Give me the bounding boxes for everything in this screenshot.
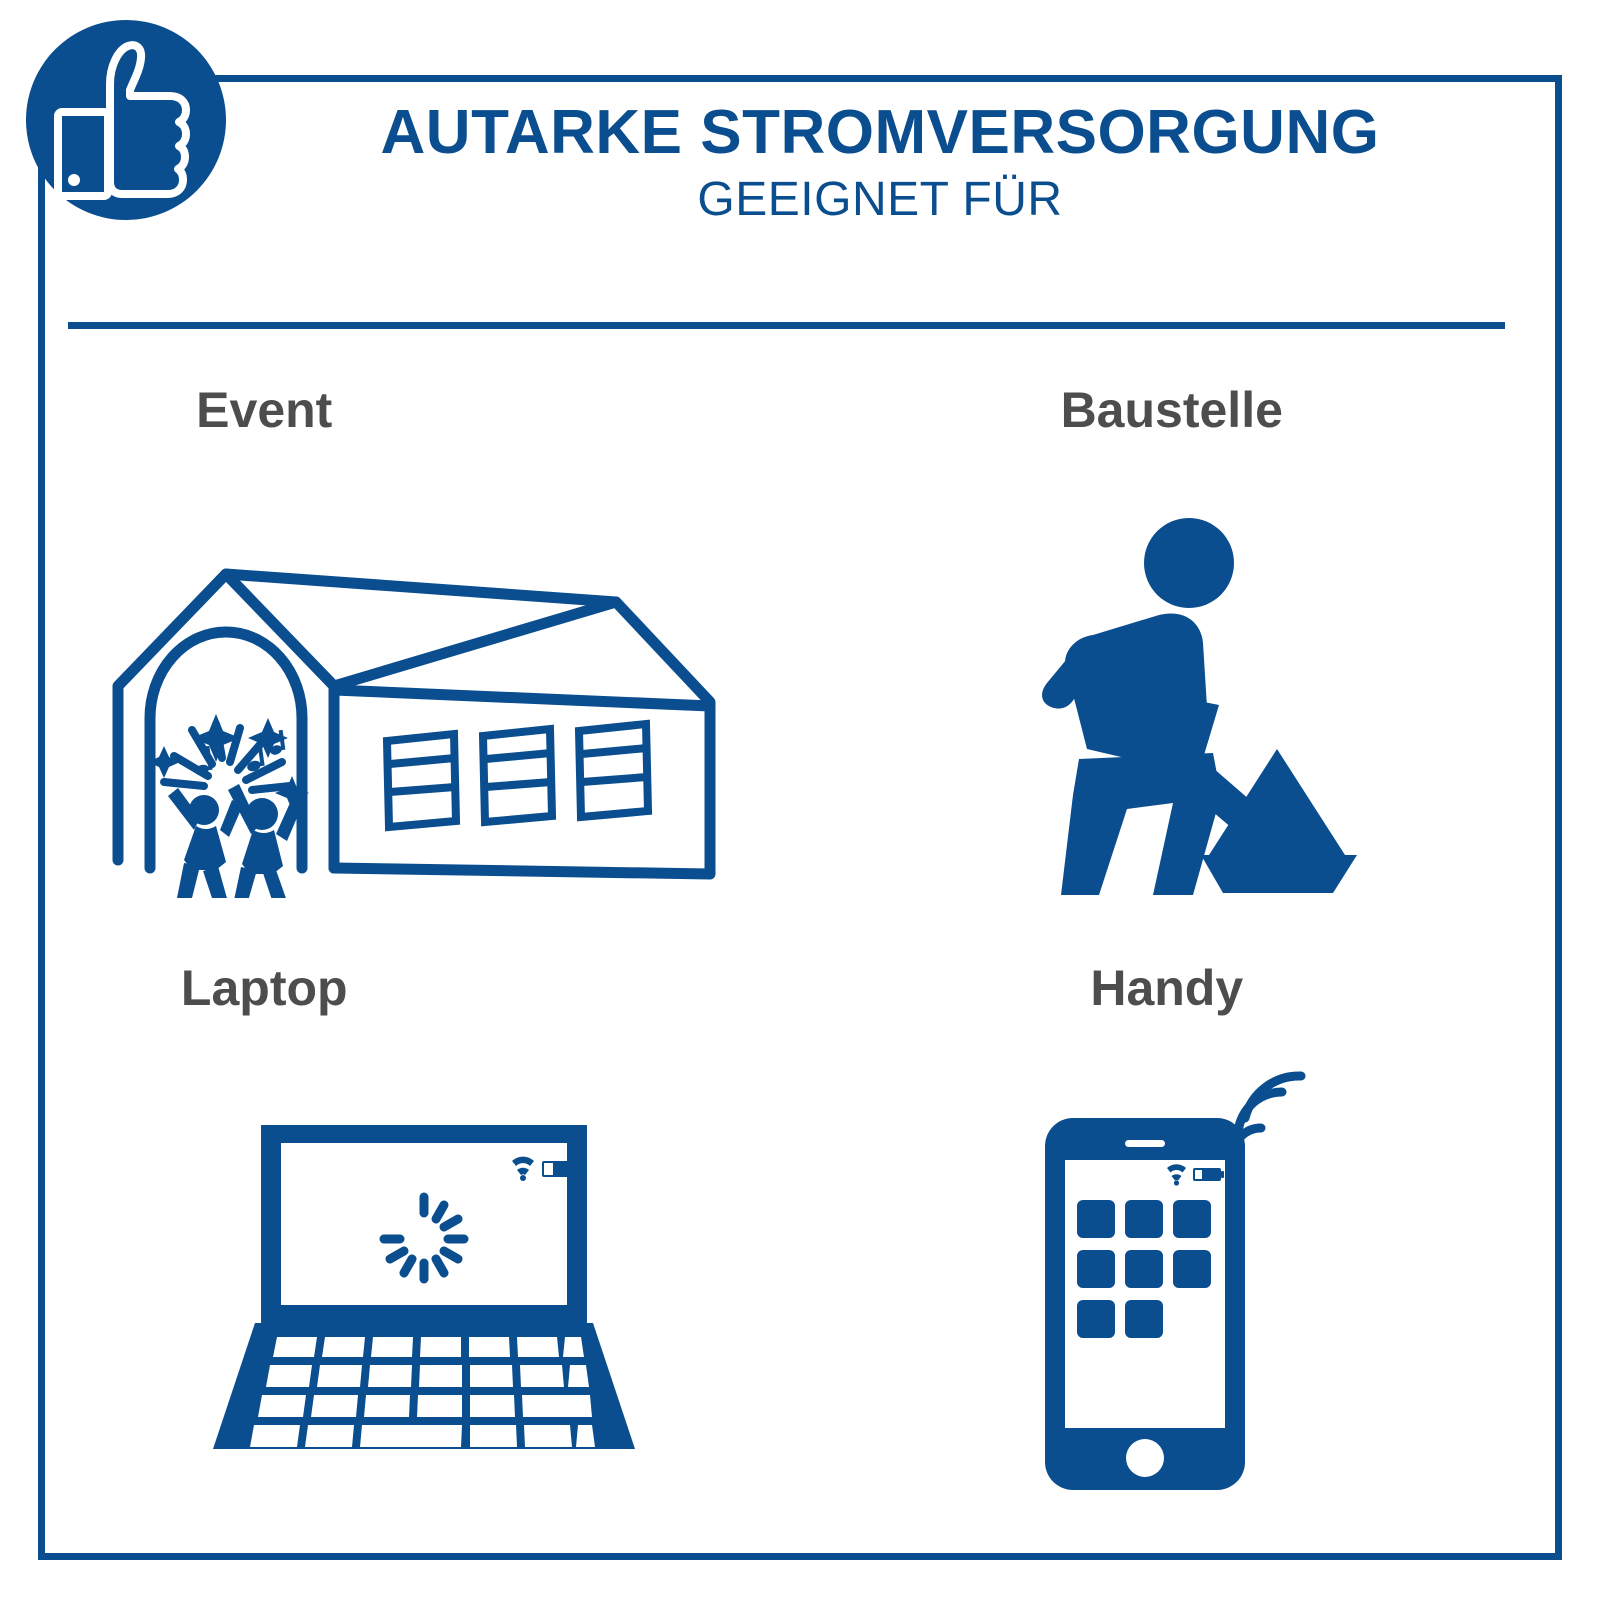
construction-worker-icon [977, 503, 1377, 903]
usecase-event: Event [48, 385, 801, 963]
usecase-art-event [48, 443, 801, 963]
usecase-laptop: Laptop [48, 963, 801, 1541]
header: AUTARKE STROMVERSORGUNG GEEIGNET FÜR [250, 100, 1510, 229]
header-divider [68, 322, 1505, 329]
usecase-label-handy: Handy [1090, 963, 1243, 1013]
infographic-root: AUTARKE STROMVERSORGUNG GEEIGNET FÜR Eve… [0, 0, 1600, 1600]
usecase-baustelle: Baustelle [801, 385, 1554, 963]
thumbs-up-icon [18, 12, 234, 228]
laptop-icon [209, 1085, 639, 1485]
party-tent-icon [104, 538, 744, 898]
page-subtitle: GEEIGNET FÜR [250, 171, 1510, 229]
usecase-art-baustelle [801, 443, 1554, 963]
usecase-grid: Event [48, 385, 1553, 1540]
page-title: AUTARKE STROMVERSORGUNG [250, 100, 1510, 165]
usecase-art-laptop [48, 1021, 801, 1541]
usecase-handy: Handy [801, 963, 1554, 1541]
usecase-label-event: Event [196, 385, 332, 435]
usecase-label-laptop: Laptop [181, 963, 348, 1013]
usecase-art-handy [801, 1021, 1554, 1541]
usecase-label-baustelle: Baustelle [1061, 385, 1283, 435]
loading-spinner-icon [384, 1197, 464, 1279]
smartphone-icon [1027, 1060, 1327, 1500]
